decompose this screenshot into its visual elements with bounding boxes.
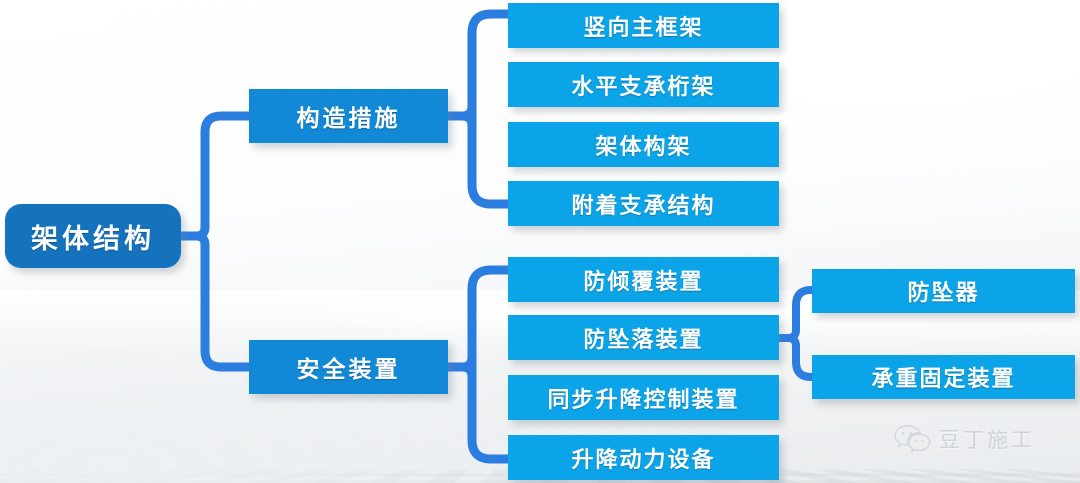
connector-root-branches-lower	[182, 236, 250, 367]
node-branch-construction-measures[interactable]: 构造措施	[249, 89, 448, 143]
node-label: 同步升降控制装置	[547, 382, 739, 414]
node-label: 附着支承结构	[571, 188, 715, 220]
node-root-label: 架体结构	[31, 217, 155, 256]
node-sync-lifting-control-device[interactable]: 同步升降控制装置	[508, 375, 779, 420]
connector-root-branches	[182, 116, 250, 236]
node-anti-fall-device[interactable]: 防坠落装置	[508, 315, 779, 360]
node-label: 防倾覆装置	[583, 264, 703, 296]
node-label: 防坠落装置	[583, 322, 703, 354]
watermark: 豆丁施工	[893, 424, 1035, 454]
node-label: 构造措施	[297, 99, 401, 133]
node-label: 防坠器	[907, 275, 979, 307]
wechat-icon	[893, 424, 931, 454]
connector-branch2-children-lower	[448, 367, 512, 459]
node-branch-safety-devices[interactable]: 安全装置	[249, 340, 448, 394]
node-vertical-main-frame[interactable]: 竖向主框架	[508, 3, 779, 48]
connector-branch1-children-lower	[448, 116, 512, 204]
node-frame-structure[interactable]: 架体构架	[508, 122, 779, 167]
node-label: 架体构架	[595, 129, 691, 161]
node-label: 竖向主框架	[583, 10, 703, 42]
node-label: 承重固定装置	[871, 361, 1015, 393]
node-lifting-power-equipment[interactable]: 升降动力设备	[508, 435, 779, 480]
diagram-canvas: 架体结构 构造措施 安全装置 竖向主框架 水平支承桁架 架体构架 附着支承结构 …	[0, 0, 1080, 483]
node-horizontal-support-truss[interactable]: 水平支承桁架	[508, 62, 779, 107]
connector-branch2-children	[448, 270, 512, 367]
node-anti-overturn-device[interactable]: 防倾覆装置	[508, 257, 779, 302]
node-load-bearing-fixing-device[interactable]: 承重固定装置	[812, 355, 1075, 399]
node-attached-support-structure[interactable]: 附着支承结构	[508, 181, 779, 226]
node-label: 安全装置	[297, 350, 401, 384]
node-label: 升降动力设备	[571, 442, 715, 474]
node-label: 水平支承桁架	[571, 69, 715, 101]
node-root[interactable]: 架体结构	[5, 204, 181, 268]
connector-branch1-children	[448, 14, 512, 116]
node-fall-arrester[interactable]: 防坠器	[812, 269, 1075, 313]
watermark-text: 豆丁施工	[939, 424, 1035, 454]
